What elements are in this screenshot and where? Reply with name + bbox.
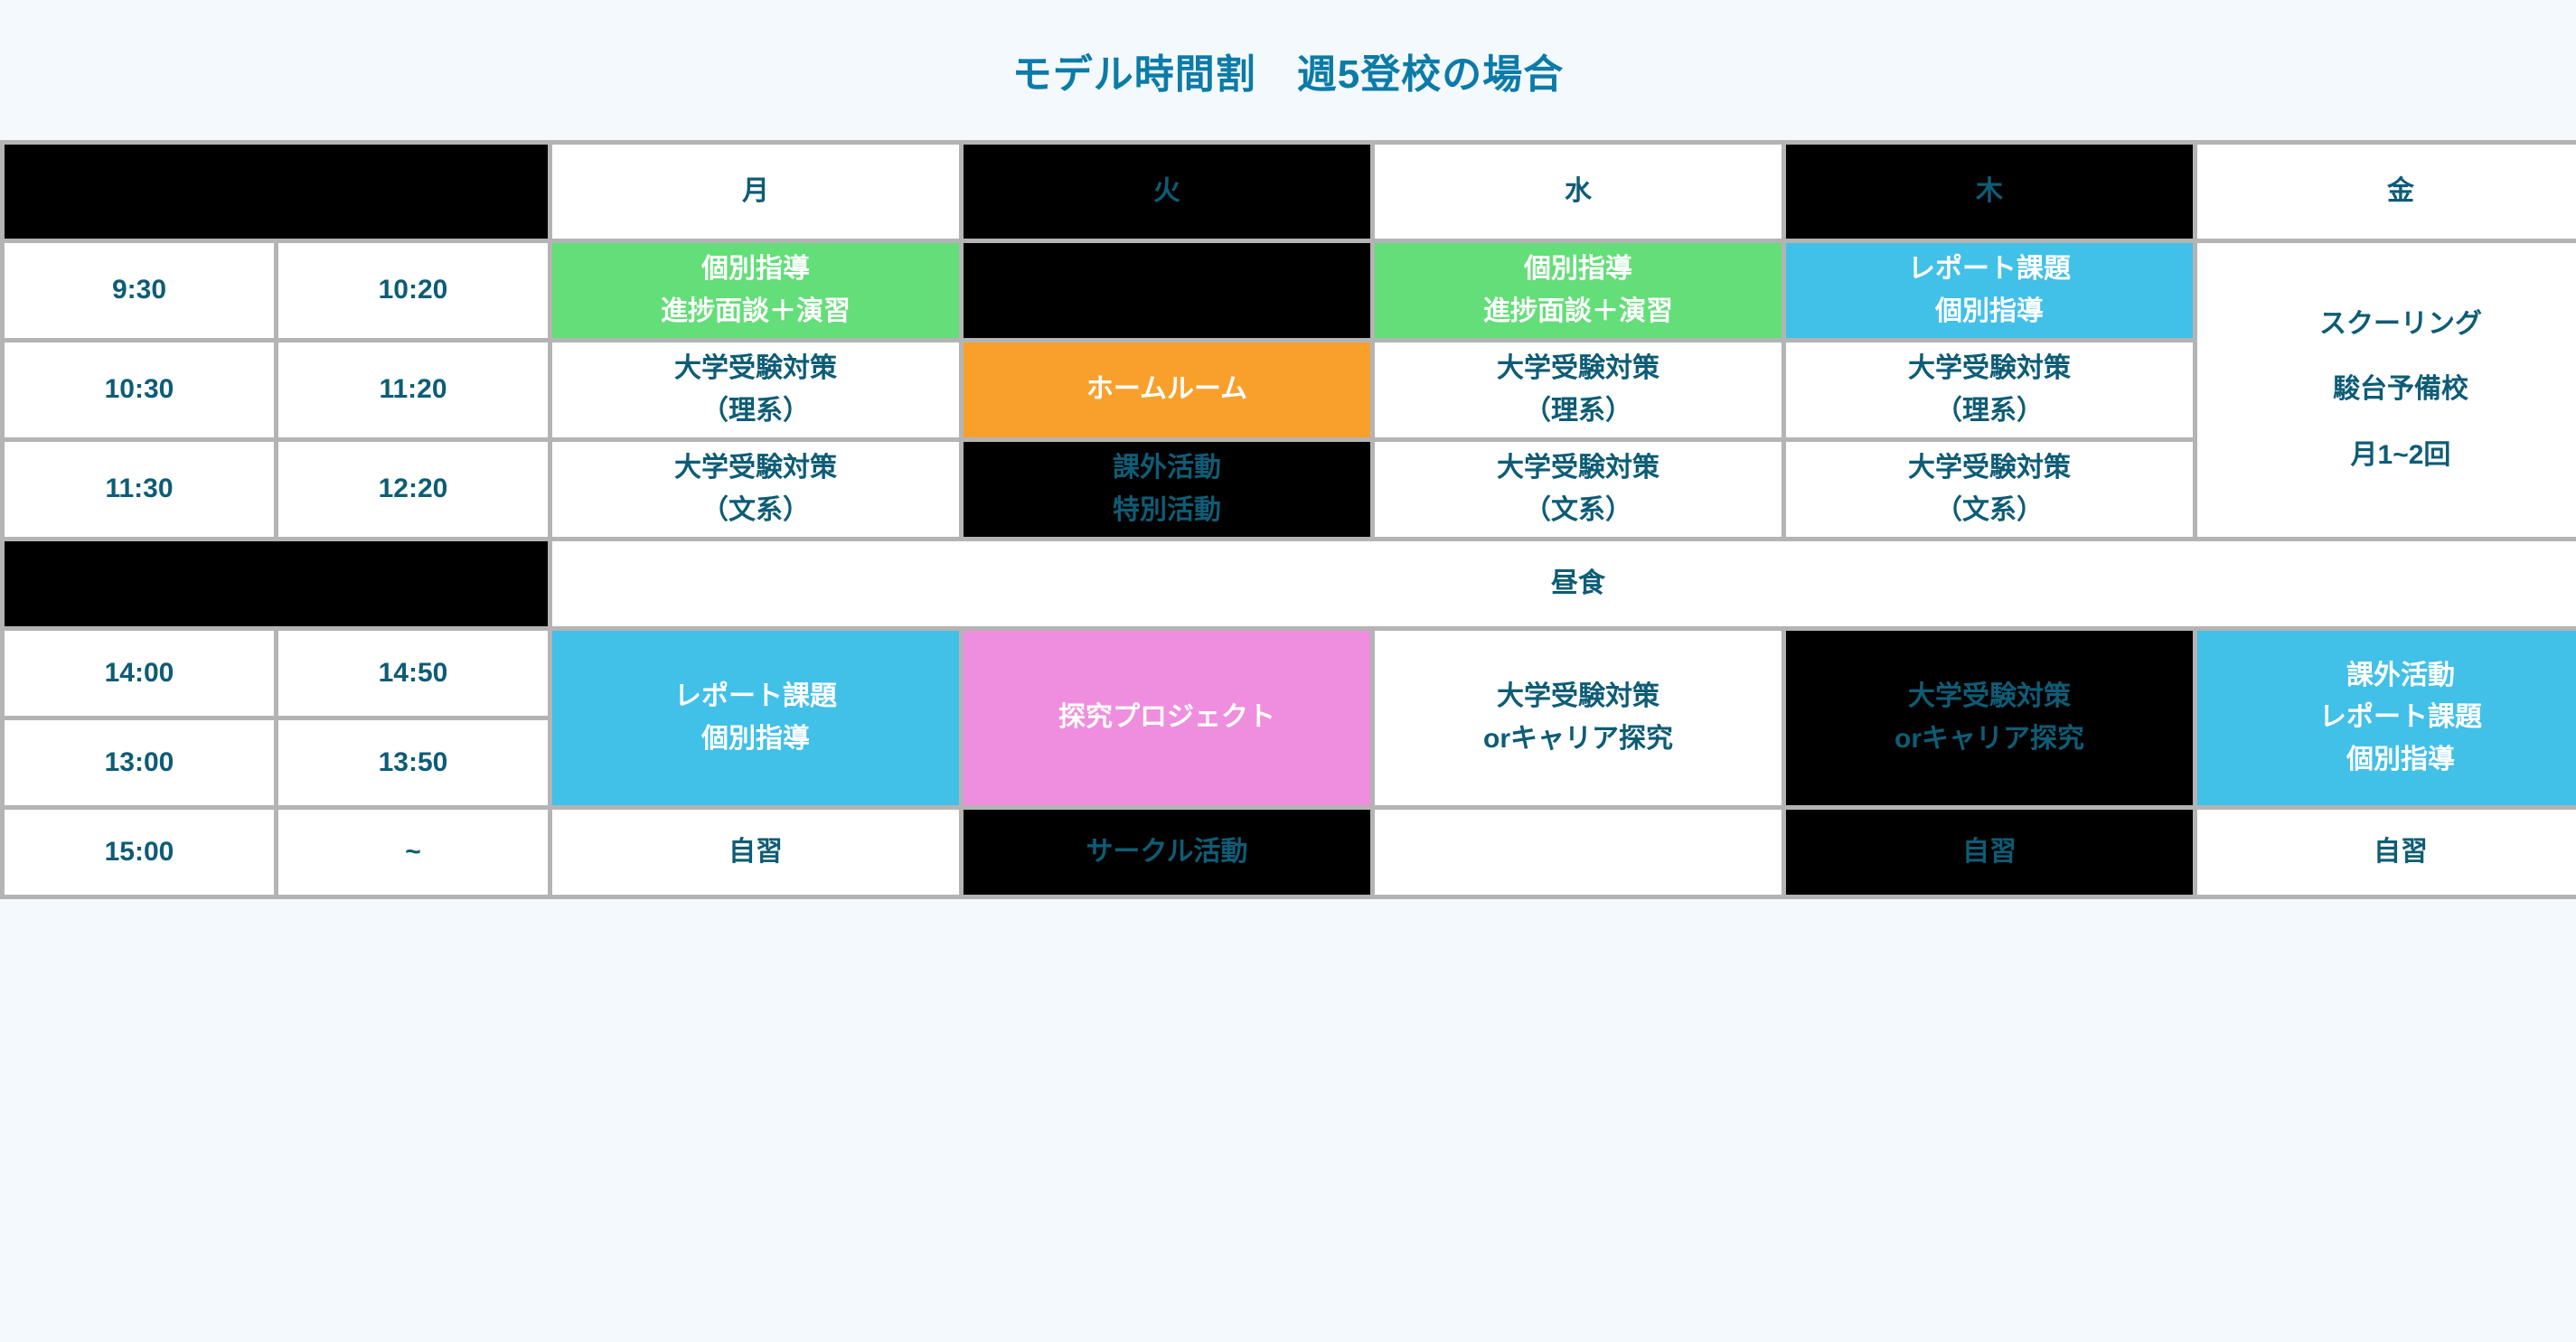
time-start-period3: 11:30 bbox=[5, 442, 274, 537]
cell-line-1: 大学受験対策 bbox=[1378, 447, 1778, 490]
page-title-bar: モデル時間割 週5登校の場合 bbox=[0, 0, 2576, 140]
cell-line-2: 個別指導 bbox=[1790, 291, 2189, 333]
time-end-period1: 10:20 bbox=[278, 243, 548, 338]
cell-wed-period1: 個別指導 進捗面談＋演習 bbox=[1375, 243, 1782, 338]
cell-line-1: 課外活動 bbox=[2201, 655, 2576, 698]
header-day-thu: 木 bbox=[1786, 145, 2193, 239]
cell-line-2: （理系） bbox=[1378, 390, 1778, 433]
table-header-row: 月 火 水 木 金 bbox=[5, 145, 2576, 239]
cell-wed-period2: 大学受験対策 （理系） bbox=[1375, 343, 1782, 437]
cell-mon-period6: 自習 bbox=[552, 810, 959, 895]
header-day-wed: 水 bbox=[1375, 145, 1782, 239]
header-day-fri: 金 bbox=[2197, 145, 2576, 239]
time-end-period2: 11:20 bbox=[278, 343, 548, 437]
table-row-period2: 10:30 11:20 大学受験対策 （理系） ホームルーム 大学受験対策 （理… bbox=[5, 343, 2576, 437]
cell-line-2: 個別指導 bbox=[556, 718, 955, 761]
cell-fri-afternoon: 課外活動 レポート課題 個別指導 bbox=[2197, 631, 2576, 805]
schooling-line-1: スクーリング bbox=[2201, 304, 2576, 346]
cell-line-2: レポート課題 bbox=[2201, 697, 2576, 739]
cell-line-2: （理系） bbox=[1790, 390, 2189, 433]
cell-line-2: 特別活動 bbox=[967, 490, 1367, 532]
cell-fri-schooling: スクーリング 駿台予備校 月1~2回 bbox=[2197, 243, 2576, 537]
cell-tue-period6: サークル活動 bbox=[964, 810, 1370, 895]
cell-thu-period2: 大学受験対策 （理系） bbox=[1786, 343, 2193, 437]
time-end-period5: 13:50 bbox=[278, 720, 548, 805]
time-end-period6: ~ bbox=[278, 810, 548, 895]
cell-line-1: 大学受験対策 bbox=[1790, 447, 2189, 490]
time-start-period6: 15:00 bbox=[5, 810, 274, 895]
cell-line-2: 進捗面談＋演習 bbox=[1378, 291, 1778, 333]
table-row-period4: 14:00 14:50 レポート課題 個別指導 探究プロジェクト 大学受験対策 … bbox=[5, 631, 2576, 716]
header-day-mon: 月 bbox=[552, 145, 959, 239]
cell-wed-period6 bbox=[1375, 810, 1782, 895]
cell-mon-period3: 大学受験対策 （文系） bbox=[552, 442, 959, 537]
time-start-period5: 13:00 bbox=[5, 720, 274, 805]
cell-line-1: 個別指導 bbox=[556, 249, 955, 291]
cell-line-1: 大学受験対策 bbox=[1790, 676, 2189, 718]
table-row-period6: 15:00 ~ 自習 サークル活動 自習 自習 bbox=[5, 810, 2576, 895]
cell-tue-afternoon: 探究プロジェクト bbox=[964, 631, 1370, 805]
cell-tue-period1 bbox=[964, 243, 1370, 338]
cell-line-1: 課外活動 bbox=[967, 447, 1367, 490]
cell-thu-period6: 自習 bbox=[1786, 810, 2193, 895]
cell-line-1: 大学受験対策 bbox=[1378, 348, 1778, 390]
cell-tue-period3: 課外活動 特別活動 bbox=[964, 442, 1370, 537]
cell-wed-period3: 大学受験対策 （文系） bbox=[1375, 442, 1782, 537]
table-row-lunch: 昼食 bbox=[5, 541, 2576, 626]
time-start-period2: 10:30 bbox=[5, 343, 274, 437]
schooling-line-2: 駿台予備校 bbox=[2201, 369, 2576, 411]
cell-line-2: orキャリア探究 bbox=[1378, 718, 1778, 761]
header-corner-cell bbox=[5, 145, 548, 239]
header-day-tue: 火 bbox=[964, 145, 1370, 239]
cell-line-1: 大学受験対策 bbox=[1378, 676, 1778, 718]
cell-thu-afternoon: 大学受験対策 orキャリア探究 bbox=[1786, 631, 2193, 805]
cell-thu-period1: レポート課題 個別指導 bbox=[1786, 243, 2193, 338]
cell-line-1: 個別指導 bbox=[1378, 249, 1778, 291]
table-row-period1: 9:30 10:20 個別指導 進捗面談＋演習 個別指導 進捗面談＋演習 レポー… bbox=[5, 243, 2576, 338]
lunch-label-cell: 昼食 bbox=[552, 541, 2576, 626]
cell-line-2: 進捗面談＋演習 bbox=[556, 291, 955, 333]
cell-thu-period3: 大学受験対策 （文系） bbox=[1786, 442, 2193, 537]
cell-tue-homeroom: ホームルーム bbox=[964, 343, 1370, 437]
page-title: モデル時間割 週5登校の場合 bbox=[1012, 42, 1564, 99]
cell-line-2: （文系） bbox=[556, 490, 955, 532]
cell-fri-period6: 自習 bbox=[2197, 810, 2576, 895]
cell-line-2: orキャリア探究 bbox=[1790, 718, 2189, 761]
cell-line-2: （文系） bbox=[1378, 490, 1778, 532]
cell-line-1: 大学受験対策 bbox=[556, 348, 955, 390]
timetable-page: モデル時間割 週5登校の場合 月 火 水 木 金 9:30 10:20 個別指導… bbox=[0, 0, 2576, 1342]
time-end-period3: 12:20 bbox=[278, 442, 548, 537]
cell-line-2: （理系） bbox=[556, 390, 955, 433]
cell-line-1: レポート課題 bbox=[556, 676, 955, 718]
time-start-period4: 14:00 bbox=[5, 631, 274, 716]
cell-line-1: 大学受験対策 bbox=[1790, 348, 2189, 390]
cell-line-3: 個別指導 bbox=[2201, 739, 2576, 782]
cell-mon-afternoon: レポート課題 個別指導 bbox=[552, 631, 959, 805]
table-row-period3: 11:30 12:20 大学受験対策 （文系） 課外活動 特別活動 大学受験対策… bbox=[5, 442, 2576, 537]
cell-wed-afternoon: 大学受験対策 orキャリア探究 bbox=[1375, 631, 1782, 805]
cell-line-1: 大学受験対策 bbox=[556, 447, 955, 490]
cell-line-2: （文系） bbox=[1790, 490, 2189, 532]
cell-mon-period1: 個別指導 進捗面談＋演習 bbox=[552, 243, 959, 338]
cell-line-1: レポート課題 bbox=[1790, 249, 2189, 291]
time-end-period4: 14:50 bbox=[278, 631, 548, 716]
cell-mon-period2: 大学受験対策 （理系） bbox=[552, 343, 959, 437]
time-start-period1: 9:30 bbox=[5, 243, 274, 338]
schooling-line-3: 月1~2回 bbox=[2201, 435, 2576, 477]
model-timetable: 月 火 水 木 金 9:30 10:20 個別指導 進捗面談＋演習 個別指導 進… bbox=[0, 140, 2576, 899]
lunch-time-cell bbox=[5, 541, 548, 626]
